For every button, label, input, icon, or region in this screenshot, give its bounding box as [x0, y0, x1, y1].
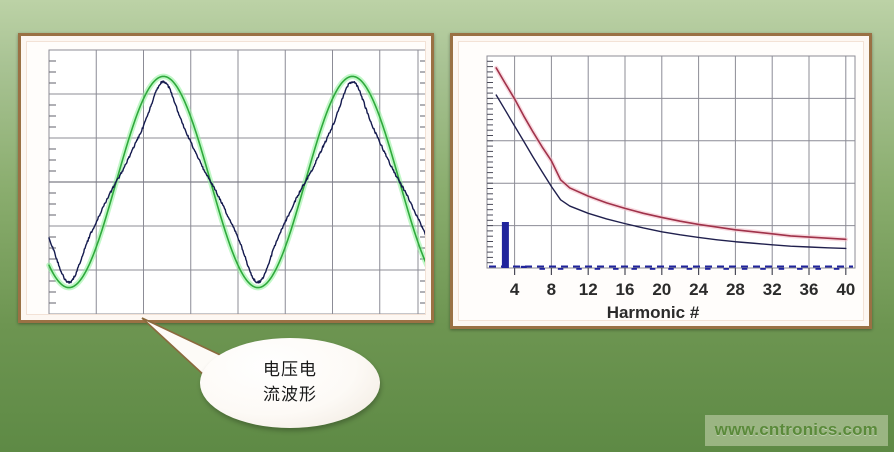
callout-line-2: 流波形	[263, 383, 317, 408]
harmonic-bar	[834, 268, 840, 270]
harmonic-bar	[595, 268, 601, 270]
right-xtick-label: 12	[579, 280, 598, 299]
callout-line-1: 电压电	[263, 358, 317, 383]
harmonic-bar	[558, 268, 564, 270]
callout-container: 电压电 流波形	[140, 316, 390, 434]
right-xtick-label: 36	[800, 280, 819, 299]
site-watermark: www.cntronics.com	[705, 415, 888, 446]
right-xtick-label: 28	[726, 280, 745, 299]
harmonic-bar	[631, 268, 637, 270]
right-xaxis-label: Harmonic #	[607, 303, 700, 321]
harmonic-bar	[539, 268, 545, 270]
left-panel-inner	[26, 41, 426, 315]
harmonic-bar	[760, 268, 766, 270]
right-xtick-label: 20	[652, 280, 671, 299]
callout-text-block: 电压电 流波形	[200, 338, 380, 428]
harmonic-bar	[687, 268, 693, 270]
harmonic-bar	[650, 268, 656, 270]
harmonic-bar	[668, 268, 674, 270]
right-harmonic-panel: 481216202428323640Harmonic #	[450, 33, 872, 329]
harmonic-bar	[502, 222, 509, 268]
slide-canvas: 481216202428323640Harmonic # 电压电 流波形 www…	[0, 0, 894, 452]
right-xtick-label: 32	[763, 280, 782, 299]
right-xtick-label: 16	[616, 280, 635, 299]
right-xtick-label: 4	[510, 280, 520, 299]
harmonic-bar	[815, 268, 821, 270]
harmonic-bar	[742, 268, 748, 270]
harmonic-bar	[705, 268, 711, 270]
right-xtick-label: 8	[547, 280, 556, 299]
harmonic-bar	[613, 268, 619, 270]
right-panel-inner: 481216202428323640Harmonic #	[458, 41, 864, 321]
right-xtick-label: 24	[689, 280, 708, 299]
harmonic-bar	[779, 268, 785, 270]
harmonic-bar	[723, 268, 729, 270]
right-xtick-label: 40	[836, 280, 855, 299]
left-waveform-chart	[27, 42, 426, 315]
harmonic-bar	[576, 268, 582, 270]
harmonic-bar	[797, 268, 803, 270]
right-xaxis: 481216202428323640	[510, 268, 855, 299]
right-harmonic-chart: 481216202428323640Harmonic #	[459, 42, 864, 321]
left-waveform-panel	[18, 33, 434, 323]
